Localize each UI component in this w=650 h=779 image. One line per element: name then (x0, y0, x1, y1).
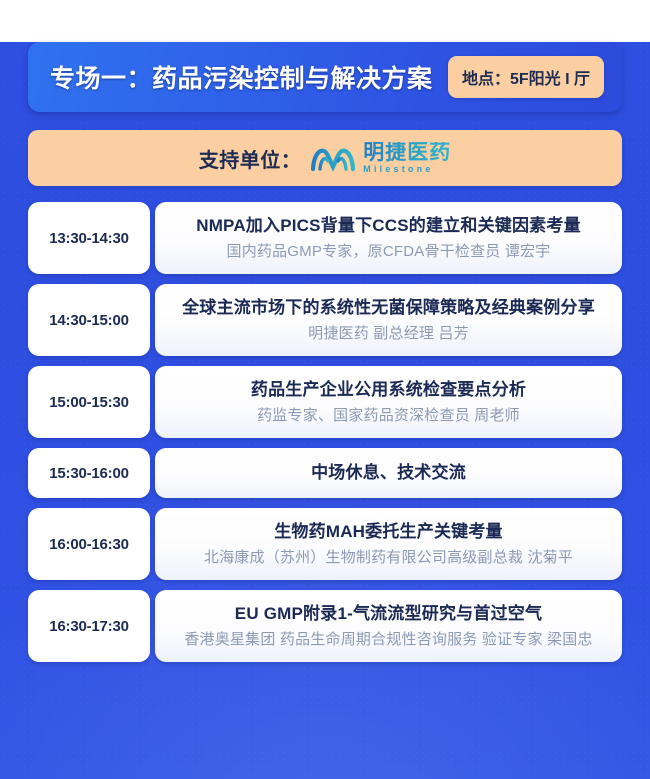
session-speaker: 香港奥星集团 药品生命周期合规性咨询服务 验证专家 梁国忠 (184, 630, 592, 650)
session-info: 全球主流市场下的系统性无菌保障策略及经典案例分享 明捷医药 副总经理 吕芳 (155, 284, 622, 356)
session-title: 生物药MAH委托生产关键考量 (274, 521, 503, 542)
sponsor-logo-text: 明捷医药 Milestone (363, 142, 451, 174)
sponsor-name-en: Milestone (363, 165, 451, 174)
session-speaker: 明捷医药 副总经理 吕芳 (308, 324, 469, 344)
session-speaker: 国内药品GMP专家，原CFDA骨干检查员 谭宏宇 (227, 242, 551, 262)
session-speaker: 药监专家、国家药品资深检查员 周老师 (257, 406, 520, 426)
schedule-row: 16:00-16:30 生物药MAH委托生产关键考量 北海康成（苏州）生物制药有… (28, 508, 622, 580)
session-time: 14:30-15:00 (28, 284, 150, 356)
schedule-row: 15:00-15:30 药品生产企业公用系统检查要点分析 药监专家、国家药品资深… (28, 366, 622, 438)
schedule-row: 14:30-15:00 全球主流市场下的系统性无菌保障策略及经典案例分享 明捷医… (28, 284, 622, 356)
schedule-list: 13:30-14:30 NMPA加入PICS背量下CCS的建立和关键因素考量 国… (28, 202, 622, 662)
session-info: NMPA加入PICS背量下CCS的建立和关键因素考量 国内药品GMP专家，原CF… (155, 202, 622, 274)
session-info: 中场休息、技术交流 (155, 448, 622, 498)
milestone-m-logo-icon (311, 144, 357, 172)
sponsor-label: 支持单位： (199, 144, 302, 173)
session-speaker: 北海康成（苏州）生物制药有限公司高级副总裁 沈菊平 (204, 548, 573, 568)
venue-badge: 地点：5F阳光 I 厅 (448, 56, 604, 98)
session-title: 全球主流市场下的系统性无菌保障策略及经典案例分享 (182, 297, 595, 318)
session-time: 16:00-16:30 (28, 508, 150, 580)
schedule-row: 13:30-14:30 NMPA加入PICS背量下CCS的建立和关键因素考量 国… (28, 202, 622, 274)
session-time: 16:30-17:30 (28, 590, 150, 662)
sponsor-name-cn: 明捷医药 (363, 142, 451, 163)
session-time: 15:30-16:00 (28, 448, 150, 498)
session-info: 药品生产企业公用系统检查要点分析 药监专家、国家药品资深检查员 周老师 (155, 366, 622, 438)
sponsor-logo: 明捷医药 Milestone (311, 142, 451, 174)
schedule-row-break: 15:30-16:00 中场休息、技术交流 (28, 448, 622, 498)
session-title-bar: 专场一：药品污染控制与解决方案 地点：5F阳光 I 厅 (28, 42, 622, 112)
session-title: 药品生产企业公用系统检查要点分析 (251, 379, 526, 400)
poster-content: 专场一：药品污染控制与解决方案 地点：5F阳光 I 厅 支持单位： (28, 42, 622, 662)
session-info: EU GMP附录1-气流流型研究与首过空气 香港奥星集团 药品生命周期合规性咨询… (155, 590, 622, 662)
session-title: 中场休息、技术交流 (311, 462, 466, 483)
session-info: 生物药MAH委托生产关键考量 北海康成（苏州）生物制药有限公司高级副总裁 沈菊平 (155, 508, 622, 580)
session-time: 13:30-14:30 (28, 202, 150, 274)
schedule-row: 16:30-17:30 EU GMP附录1-气流流型研究与首过空气 香港奥星集团… (28, 590, 622, 662)
session-title: EU GMP附录1-气流流型研究与首过空气 (235, 603, 542, 624)
session-time: 15:00-15:30 (28, 366, 150, 438)
poster-page: 专场一：药品污染控制与解决方案 地点：5F阳光 I 厅 支持单位： (0, 42, 650, 779)
session-title: NMPA加入PICS背量下CCS的建立和关键因素考量 (196, 215, 581, 236)
sponsor-bar: 支持单位： 明捷医药 Milestone (28, 130, 622, 186)
page-title: 专场一：药品污染控制与解决方案 (50, 59, 448, 95)
